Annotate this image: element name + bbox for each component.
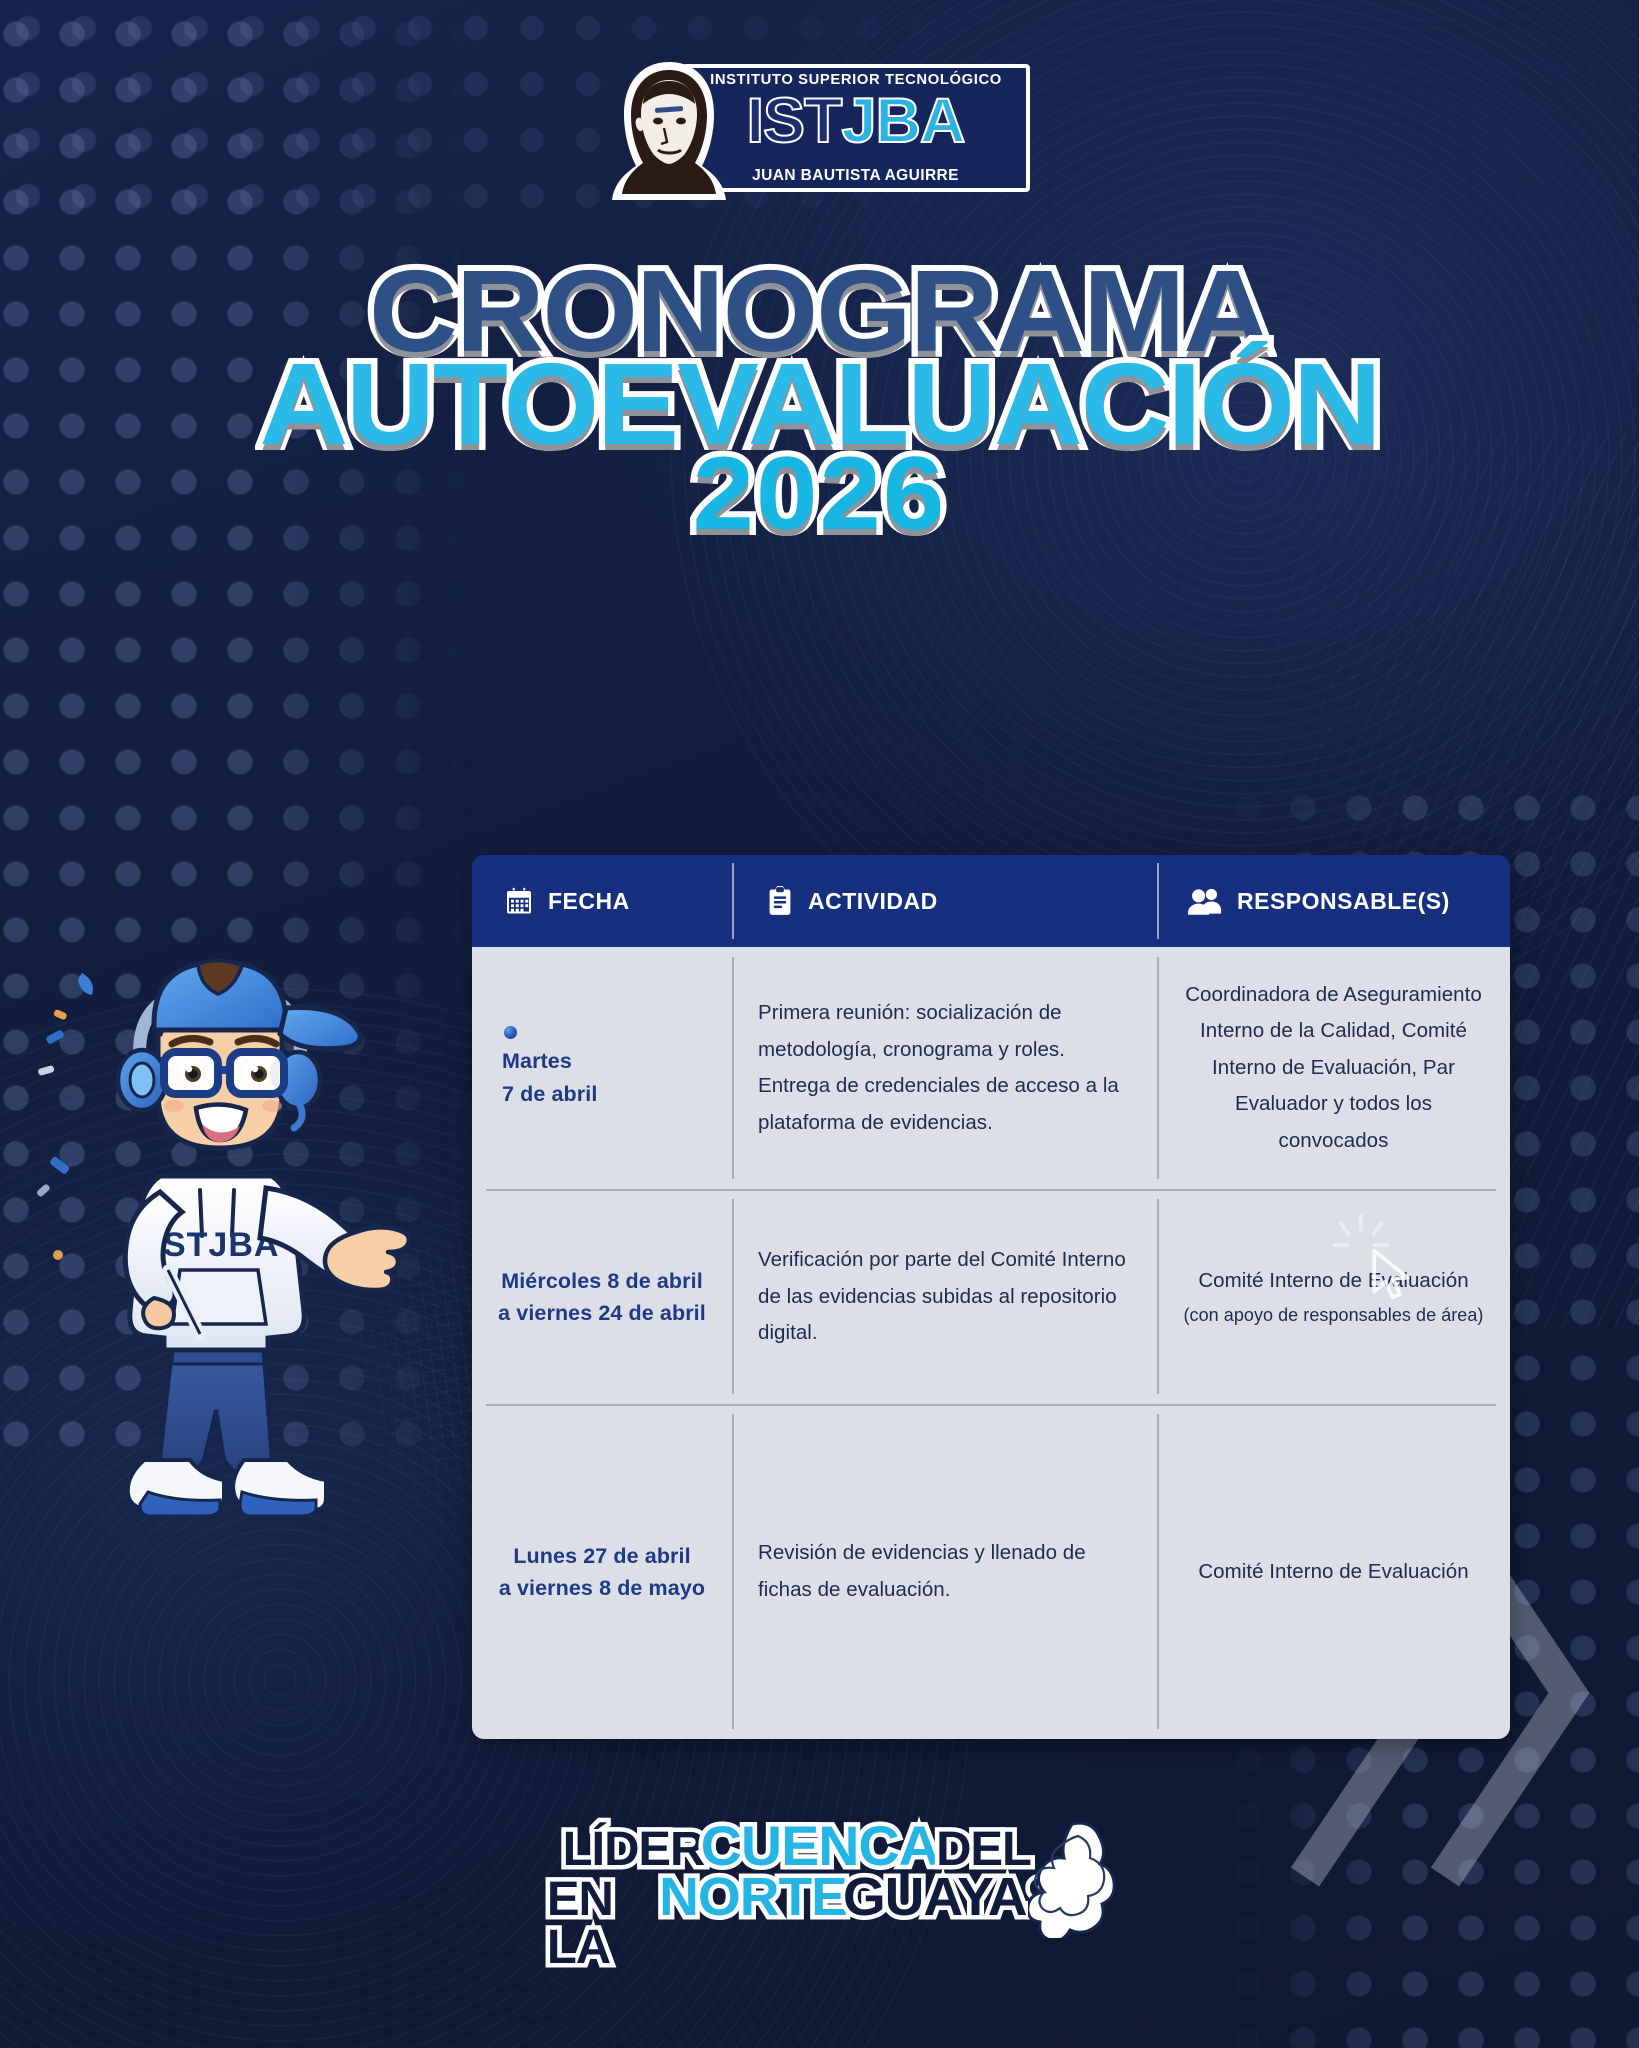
responsible-subtext: (con apoyo de responsables de área): [1183, 1299, 1484, 1331]
activity-text: Verificación por parte del Comité Intern…: [758, 1242, 1131, 1351]
logo-acronym: ISTJBA: [686, 90, 1026, 153]
cell-responsable: Comité Interno de Evaluación (con apoyo …: [1157, 1189, 1510, 1404]
tagline-row-2: EN LA NORTE GUAYAS: [540, 1870, 1060, 1972]
column-header-responsables: RESPONSABLE(S): [1157, 855, 1510, 947]
logo-person-name: JUAN BAUTISTA AGUIRRE: [686, 167, 1026, 185]
cell-responsable: Comité Interno de Evaluación: [1157, 1404, 1510, 1739]
schedule-table: FECHA ACTIVIDAD RESPONSABLE(S): [472, 855, 1510, 1739]
mascot-character: ISTJBA: [48, 940, 468, 1600]
column-header-responsables-label: RESPONSABLE(S): [1237, 888, 1450, 915]
bullet-point-icon: [504, 1026, 517, 1039]
title-line-3-year: 2026: [0, 447, 1639, 543]
cell-responsable: Coordinadora de Aseguramiento Interno de…: [1157, 947, 1510, 1189]
poster-title: CRONOGRAMA AUTOEVALUACIÓN 2026: [0, 258, 1639, 543]
tagline-enla: EN LA: [547, 1876, 662, 1972]
tagline-cuenca: CUENCA: [701, 1818, 939, 1874]
clipboard-icon: [766, 886, 794, 916]
tagline-row-1: LÍDER CUENCA DEL: [540, 1818, 1060, 1874]
table-row: Lunes 27 de abril a viernes 8 de mayo Re…: [472, 1404, 1510, 1739]
date-line-2: 7 de abril: [498, 1078, 706, 1110]
column-header-actividad: ACTIVIDAD: [732, 855, 1157, 947]
table-header-row: FECHA ACTIVIDAD RESPONSABLE(S): [472, 855, 1510, 947]
calendar-icon: [504, 886, 534, 916]
cell-actividad: Verificación por parte del Comité Intern…: [732, 1189, 1157, 1404]
responsible-text: Coordinadora de Aseguramiento Interno de…: [1183, 977, 1484, 1159]
table-body: Martes 7 de abril Primera reunión: socia…: [472, 947, 1510, 1739]
responsible-text: Comité Interno de Evaluación: [1183, 1554, 1484, 1590]
cursor-pointer-icon: [1368, 1247, 1414, 1303]
cell-fecha: Martes 7 de abril: [472, 947, 732, 1189]
institution-logo: INSTITUTO SUPERIOR TECNOLÓGICO ISTJBA JU…: [610, 52, 1030, 204]
portrait-icon: [610, 58, 728, 204]
activity-text: Revisión de evidencias y llenado de fich…: [758, 1535, 1131, 1608]
cell-fecha: Miércoles 8 de abril a viernes 24 de abr…: [472, 1189, 732, 1404]
logo-acronym-jba: JBA: [841, 86, 964, 156]
column-header-actividad-label: ACTIVIDAD: [808, 888, 938, 915]
date-line-2: a viernes 8 de mayo: [498, 1572, 706, 1604]
date-line-1: Lunes 27 de abril: [498, 1540, 706, 1572]
cell-fecha: Lunes 27 de abril a viernes 8 de mayo: [472, 1404, 732, 1739]
tagline-norte: NORTE: [659, 1870, 847, 1924]
table-row: Martes 7 de abril Primera reunión: socia…: [472, 947, 1510, 1189]
logo-acronym-ist: IST: [746, 86, 841, 156]
column-header-fecha: FECHA: [472, 855, 732, 947]
table-row: Miércoles 8 de abril a viernes 24 de abr…: [472, 1189, 1510, 1404]
date-line-2: a viernes 24 de abril: [498, 1297, 706, 1329]
cell-actividad: Primera reunión: socialización de metodo…: [732, 947, 1157, 1189]
date-line-1: Martes: [498, 1045, 706, 1077]
logo-plate: INSTITUTO SUPERIOR TECNOLÓGICO ISTJBA JU…: [682, 64, 1030, 192]
date-line-1: Miércoles 8 de abril: [498, 1265, 706, 1297]
column-header-fecha-label: FECHA: [548, 888, 630, 915]
cell-actividad: Revisión de evidencias y llenado de fich…: [732, 1404, 1157, 1739]
guayas-province-map-icon: [1028, 1820, 1138, 1938]
footer-tagline: LÍDER CUENCA DEL EN LA NORTE GUAYAS: [540, 1818, 1060, 1943]
people-icon: [1187, 887, 1223, 915]
activity-text: Primera reunión: socialización de metodo…: [758, 995, 1131, 1141]
